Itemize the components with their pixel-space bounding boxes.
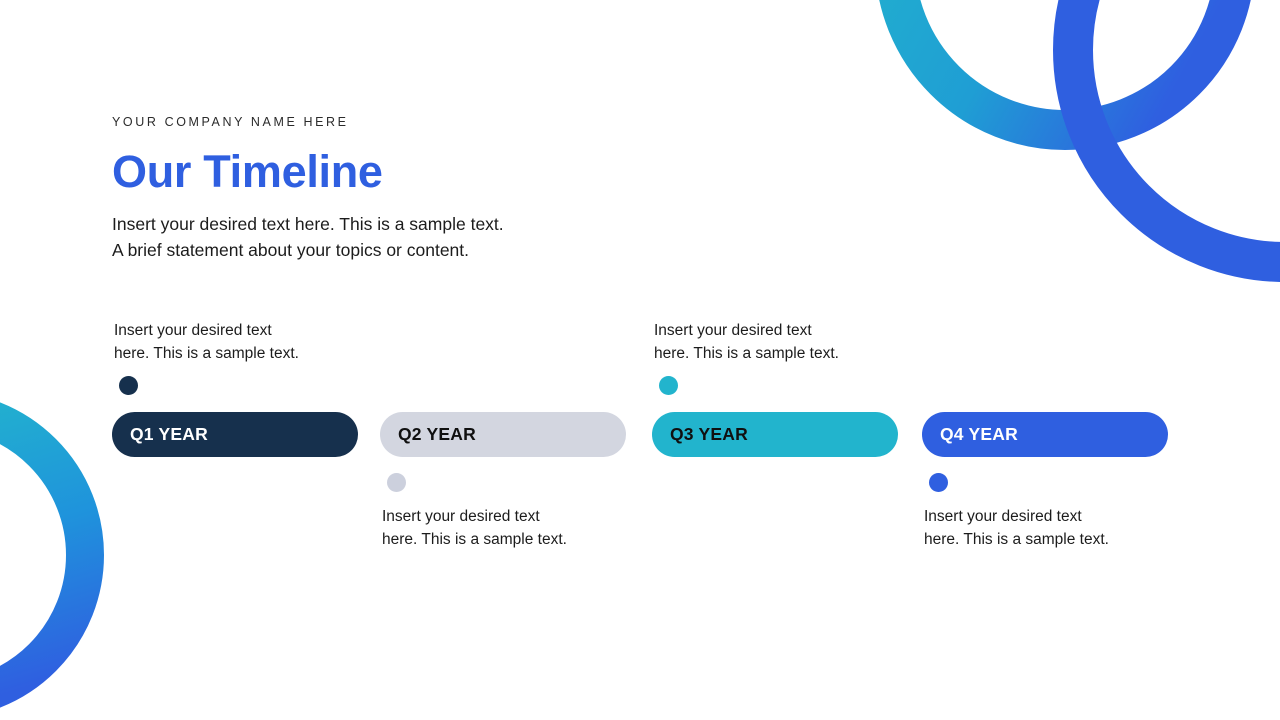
timeline-blurb-q2: Insert your desired text here. This is a… [382, 506, 622, 551]
timeline-blurb-line-1: Insert your desired text [654, 320, 894, 343]
subtitle-line-2: A brief statement about your topics or c… [112, 238, 732, 264]
timeline-item-q4: Q4 YEAR Insert your desired text here. T… [922, 312, 1168, 572]
timeline-pill-label-q4: Q4 YEAR [940, 424, 1018, 445]
timeline-dot-q3 [659, 376, 678, 395]
slide-canvas: YOUR COMPANY NAME HERE Our Timeline Inse… [0, 0, 1280, 720]
timeline-dot-q1 [119, 376, 138, 395]
timeline-pill-q2[interactable]: Q2 YEAR [380, 412, 626, 457]
timeline-pill-label-q3: Q3 YEAR [670, 424, 748, 445]
page-title: Our Timeline [112, 146, 732, 198]
timeline-item-q2: Q2 YEAR Insert your desired text here. T… [380, 312, 626, 572]
timeline-blurb-line-2: here. This is a sample text. [382, 529, 622, 552]
timeline-item-q3: Insert your desired text here. This is a… [652, 312, 898, 572]
timeline-dot-q2 [387, 473, 406, 492]
timeline-pill-q4[interactable]: Q4 YEAR [922, 412, 1168, 457]
timeline-blurb-line-1: Insert your desired text [382, 506, 622, 529]
timeline-dot-q4 [929, 473, 948, 492]
company-name-eyebrow: YOUR COMPANY NAME HERE [112, 113, 732, 131]
timeline-blurb-q3: Insert your desired text here. This is a… [654, 320, 894, 365]
timeline-item-q1: Insert your desired text here. This is a… [112, 312, 358, 572]
cyan-blue-gradient-ring-top [895, 0, 1235, 130]
timeline-blurb-q4: Insert your desired text here. This is a… [924, 506, 1164, 551]
timeline-blurb-line-1: Insert your desired text [114, 320, 354, 343]
subtitle-line-1: Insert your desired text here. This is a… [112, 212, 732, 238]
timeline-blurb-q1: Insert your desired text here. This is a… [114, 320, 354, 365]
timeline-group: Insert your desired text here. This is a… [112, 312, 1168, 572]
header-block: YOUR COMPANY NAME HERE Our Timeline Inse… [112, 113, 732, 263]
cyan-blue-gradient-ring-bottom [0, 410, 85, 700]
timeline-pill-q3[interactable]: Q3 YEAR [652, 412, 898, 457]
timeline-blurb-line-2: here. This is a sample text. [114, 343, 354, 366]
subtitle-text: Insert your desired text here. This is a… [112, 212, 732, 263]
timeline-blurb-line-2: here. This is a sample text. [654, 343, 894, 366]
timeline-pill-label-q1: Q1 YEAR [130, 424, 208, 445]
timeline-blurb-line-1: Insert your desired text [924, 506, 1164, 529]
timeline-pill-q1[interactable]: Q1 YEAR [112, 412, 358, 457]
blue-ring-top-right [1073, 0, 1280, 262]
timeline-blurb-line-2: here. This is a sample text. [924, 529, 1164, 552]
timeline-pill-label-q2: Q2 YEAR [398, 424, 476, 445]
